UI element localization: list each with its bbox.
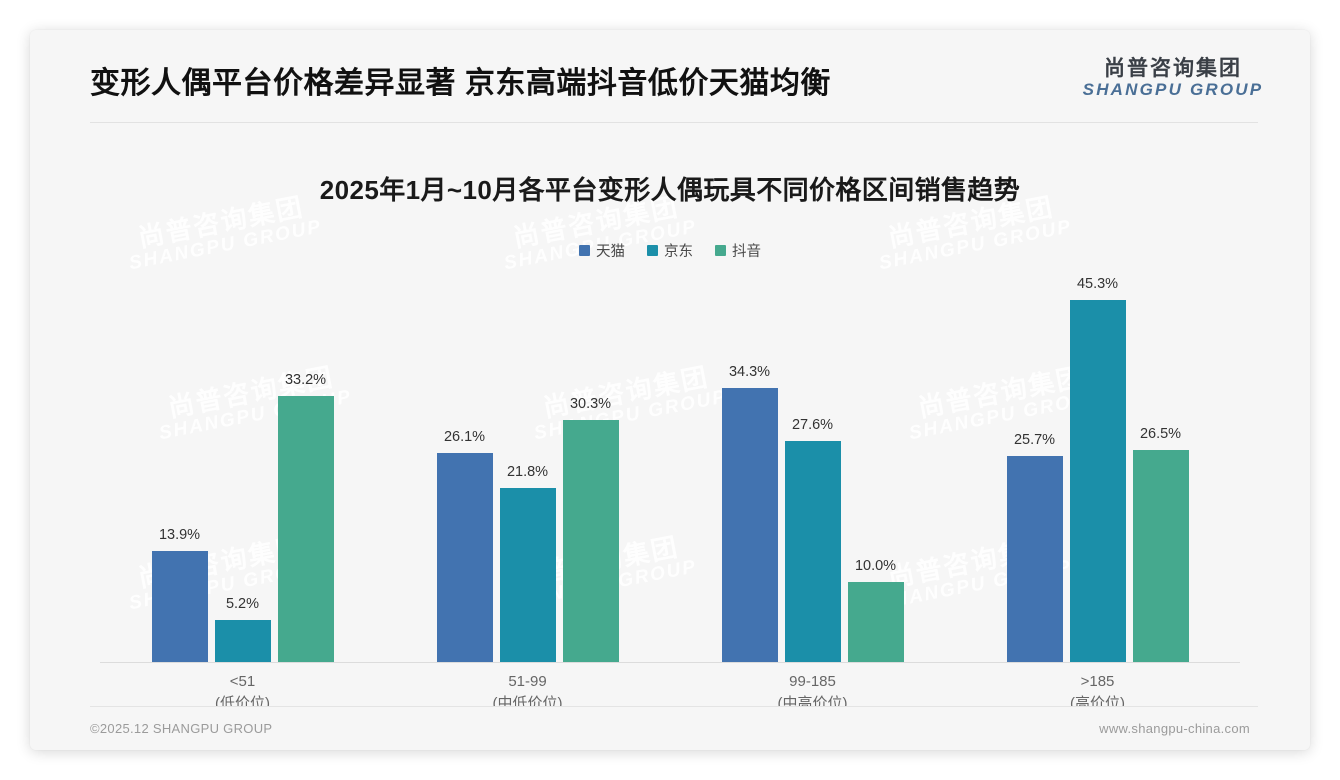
bar-column: 27.6% <box>785 262 841 662</box>
x-axis-labels: <51(低价位)51-99(中低价位)99-185(中高价位)>185(高价位) <box>100 671 1240 708</box>
legend-swatch-icon <box>715 245 726 256</box>
bar-column: 26.5% <box>1133 262 1189 662</box>
bar-group-4: 25.7%45.3%26.5% <box>1007 262 1189 662</box>
legend-item-3[interactable]: 抖音 <box>715 240 761 261</box>
bar-抖音[interactable] <box>848 582 904 662</box>
bar-value-label: 13.9% <box>135 527 225 543</box>
bar-京东[interactable] <box>785 441 841 662</box>
bar-column: 10.0% <box>848 262 904 662</box>
x-axis-label-range: 51-99 <box>508 673 546 690</box>
bar-京东[interactable] <box>215 620 271 662</box>
bar-天猫[interactable] <box>437 453 493 662</box>
bar-column: 5.2% <box>215 262 271 662</box>
legend-label: 抖音 <box>732 240 761 261</box>
bar-column: 34.3% <box>722 262 778 662</box>
x-axis-label-range: 99-185 <box>789 673 836 690</box>
bar-group-2: 26.1%21.8%30.3% <box>437 262 619 662</box>
copyright-text: ©2025.12 SHANGPU GROUP <box>90 721 272 736</box>
legend-label: 天猫 <box>596 240 625 261</box>
bar-抖音[interactable] <box>278 396 334 662</box>
x-axis-label-range: >185 <box>1081 673 1115 690</box>
footer-divider <box>90 706 1258 707</box>
x-axis-label-4: >185(高价位) <box>978 671 1218 708</box>
bar-value-label: 33.2% <box>261 372 351 388</box>
bar-value-label: 25.7% <box>990 432 1080 448</box>
bar-column: 25.7% <box>1007 262 1063 662</box>
chart-legend: 天猫京东抖音 <box>30 240 1310 261</box>
bar-group-3: 34.3%27.6%10.0% <box>722 262 904 662</box>
chart-title: 2025年1月~10月各平台变形人偶玩具不同价格区间销售趋势 <box>30 170 1310 207</box>
bar-column: 30.3% <box>563 262 619 662</box>
legend-label: 京东 <box>664 240 693 261</box>
page-title: 变形人偶平台价格差异显著 京东高端抖音低价天猫均衡 <box>90 58 831 102</box>
slide-footer: ©2025.12 SHANGPU GROUP www.shangpu-china… <box>30 706 1310 750</box>
legend-item-1[interactable]: 天猫 <box>579 240 625 261</box>
bar-京东[interactable] <box>500 488 556 662</box>
bar-group-1: 13.9%5.2%33.2% <box>152 262 334 662</box>
logo-english-text: SHANGPU GROUP <box>1078 80 1268 100</box>
x-axis-label-3: 99-185(中高价位) <box>693 671 933 708</box>
bar-column: 33.2% <box>278 262 334 662</box>
x-axis-label-1: <51(低价位) <box>123 671 363 708</box>
bar-value-label: 26.1% <box>420 429 510 445</box>
company-logo: 尚普咨询集团 SHANGPU GROUP <box>1078 58 1268 100</box>
legend-item-2[interactable]: 京东 <box>647 240 693 261</box>
bar-column: 21.8% <box>500 262 556 662</box>
bar-value-label: 26.5% <box>1116 426 1206 442</box>
slide-header: 变形人偶平台价格差异显著 京东高端抖音低价天猫均衡 尚普咨询集团 SHANGPU… <box>30 30 1310 122</box>
bar-天猫[interactable] <box>1007 456 1063 662</box>
bar-column: 45.3% <box>1070 262 1126 662</box>
bar-value-label: 27.6% <box>768 417 858 433</box>
bar-京东[interactable] <box>1070 300 1126 662</box>
plot-area: 13.9%5.2%33.2%26.1%21.8%30.3%34.3%27.6%1… <box>100 263 1240 663</box>
bar-column: 26.1% <box>437 262 493 662</box>
legend-swatch-icon <box>579 245 590 256</box>
bar-抖音[interactable] <box>563 420 619 662</box>
bar-value-label: 10.0% <box>831 558 921 574</box>
slide-card: 变形人偶平台价格差异显著 京东高端抖音低价天猫均衡 尚普咨询集团 SHANGPU… <box>30 30 1310 750</box>
bar-value-label: 45.3% <box>1053 276 1143 292</box>
bar-value-label: 5.2% <box>198 596 288 612</box>
x-axis-label-range: <51 <box>230 673 255 690</box>
legend-swatch-icon <box>647 245 658 256</box>
bar-value-label: 34.3% <box>705 364 795 380</box>
bar-value-label: 30.3% <box>546 396 636 412</box>
x-axis-baseline <box>100 662 1240 663</box>
bar-value-label: 21.8% <box>483 464 573 480</box>
chart-area: 尚普咨询集团SHANGPU GROUP尚普咨询集团SHANGPU GROUP尚普… <box>30 123 1310 708</box>
logo-chinese-text: 尚普咨询集团 <box>1078 58 1268 80</box>
website-url[interactable]: www.shangpu-china.com <box>1099 721 1250 736</box>
x-axis-label-2: 51-99(中低价位) <box>408 671 648 708</box>
bar-抖音[interactable] <box>1133 450 1189 662</box>
